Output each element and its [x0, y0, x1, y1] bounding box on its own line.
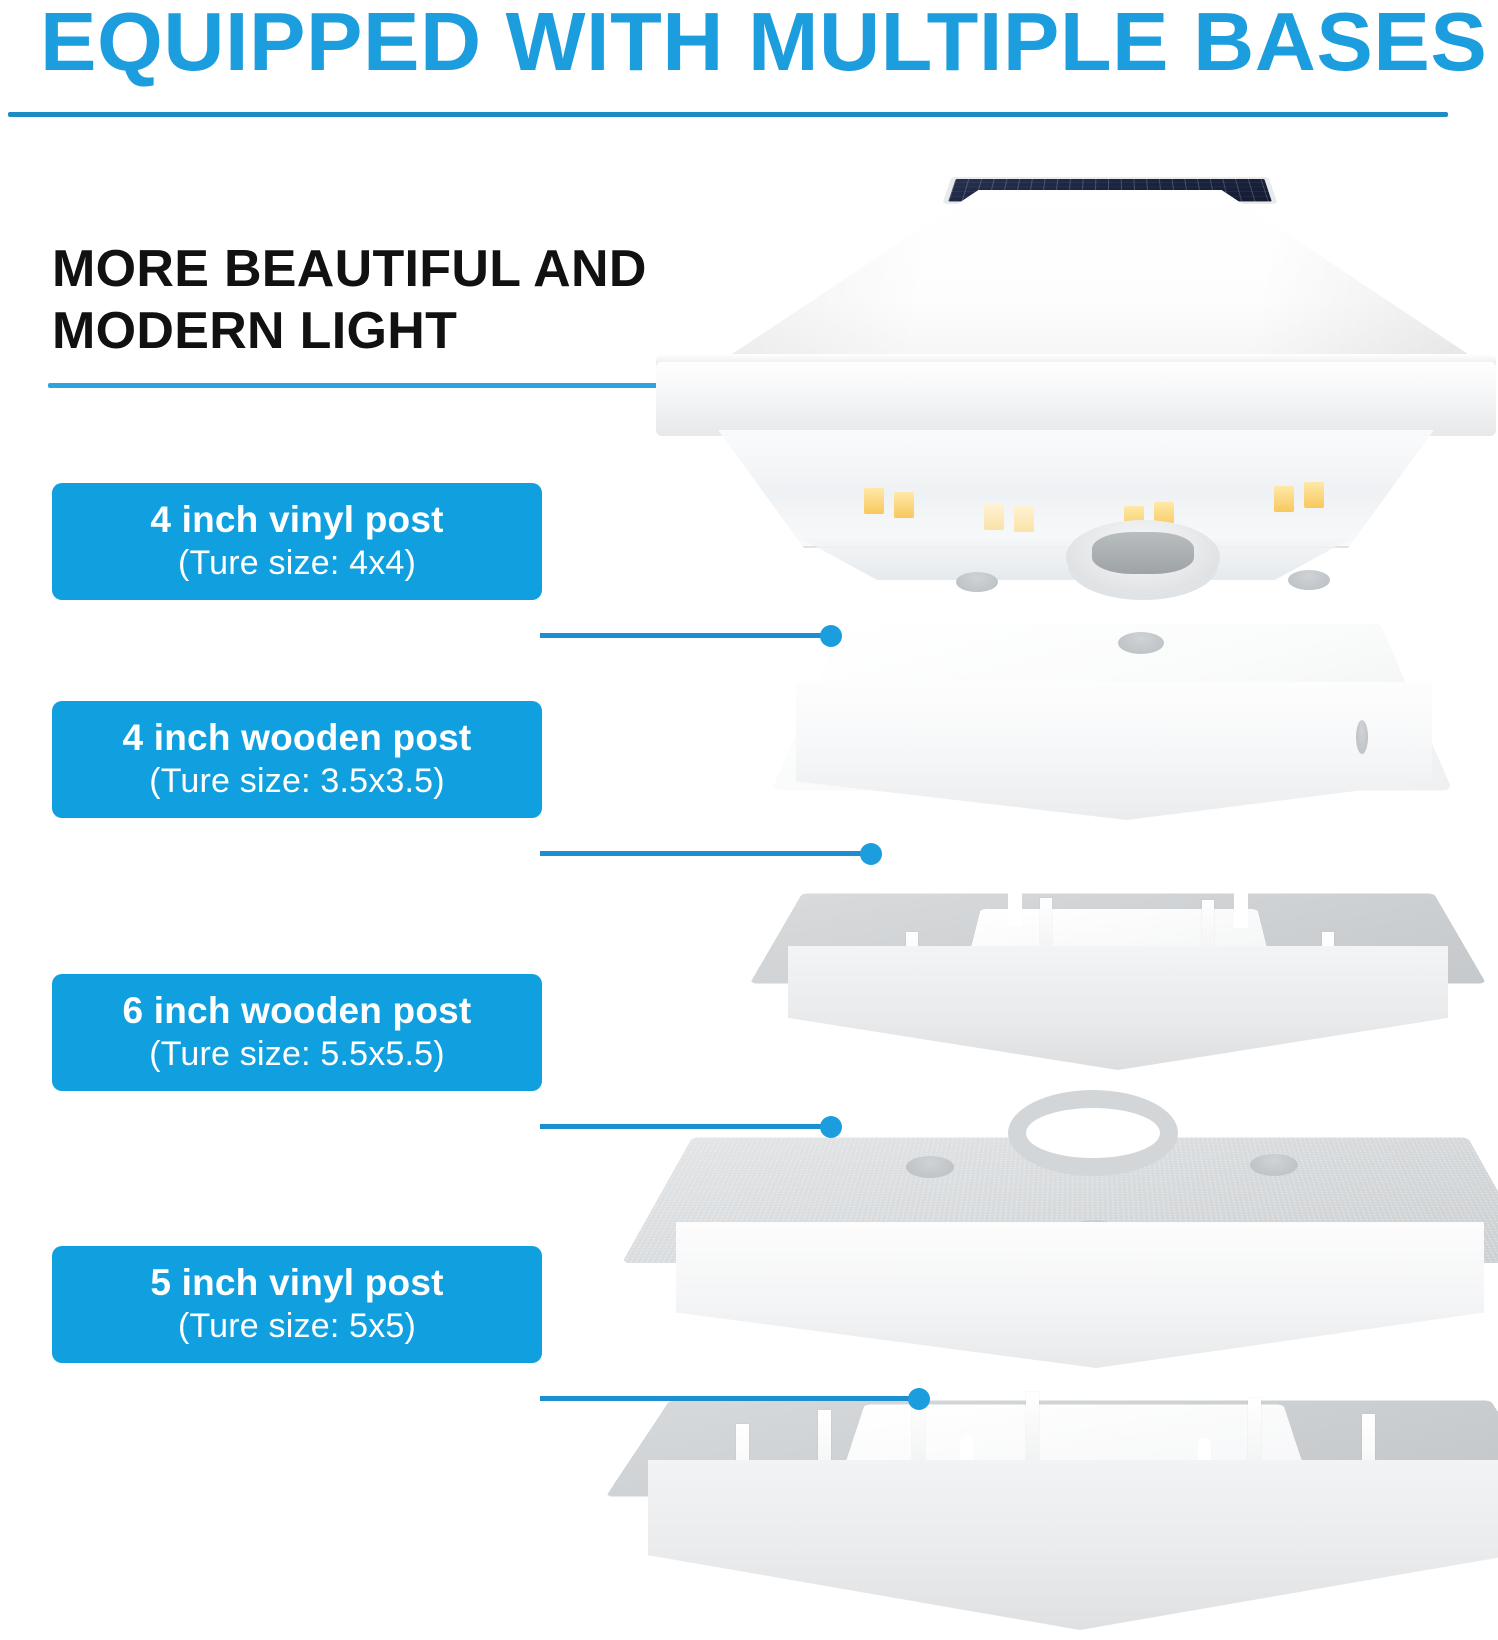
base-6in-wooden-collar-ring — [1008, 1090, 1178, 1176]
callout-leader-dot-3 — [820, 1116, 842, 1138]
callout-6-inch-wooden-post[interactable]: 6 inch wooden post (Ture size: 5.5x5.5) — [52, 974, 542, 1091]
base-5in-vinyl-skirt — [648, 1460, 1498, 1630]
callout-title: 4 inch vinyl post — [74, 497, 520, 542]
base-4in-vinyl-collar-slot — [1092, 532, 1194, 574]
callout-leader-line-1 — [540, 633, 830, 638]
screw-hole — [1118, 632, 1164, 654]
subtitle-line-1: MORE BEAUTIFUL AND — [52, 238, 672, 300]
frame-notch — [1008, 886, 1022, 926]
callout-5-inch-vinyl-post[interactable]: 5 inch vinyl post (Ture size: 5x5) — [52, 1246, 542, 1363]
callout-size: (Ture size: 3.5x3.5) — [74, 760, 520, 802]
base-4in-vinyl-body — [796, 682, 1432, 820]
led-chip — [894, 492, 914, 518]
screw-hole — [956, 572, 998, 592]
product-exploded-view — [600, 140, 1498, 1500]
page-title: EQUIPPED WITH MULTIPLE BASES — [40, 0, 1488, 92]
side-screw-hole — [1356, 720, 1368, 754]
base-6in-wooden — [660, 1070, 1498, 1370]
base-4in-wooden — [778, 840, 1458, 1090]
callout-size: (Ture size: 5.5x5.5) — [74, 1033, 520, 1075]
screw-hole — [1288, 570, 1330, 590]
lamp-flange — [656, 362, 1496, 436]
subtitle-block: MORE BEAUTIFUL AND MODERN LIGHT — [52, 238, 672, 362]
led-chip — [1014, 506, 1034, 532]
screw-hole — [906, 1156, 954, 1178]
subtitle-line-2: MODERN LIGHT — [52, 300, 672, 362]
frame-notch — [1234, 888, 1248, 928]
frame-rib — [1026, 1392, 1039, 1466]
base-4in-wooden-skirt — [788, 946, 1448, 1070]
base-5in-vinyl — [640, 1340, 1498, 1640]
callout-title: 6 inch wooden post — [74, 988, 520, 1033]
screw-hole — [1250, 1154, 1298, 1176]
callout-title: 5 inch vinyl post — [74, 1260, 520, 1305]
lamp-led-lens — [718, 430, 1434, 548]
callout-size: (Ture size: 4x4) — [74, 542, 520, 584]
led-chip — [984, 504, 1004, 530]
callout-leader-dot-2 — [860, 843, 882, 865]
callout-size: (Ture size: 5x5) — [74, 1305, 520, 1347]
callout-leader-line-3 — [540, 1124, 830, 1129]
callout-leader-dot-1 — [820, 625, 842, 647]
led-chip — [1274, 486, 1294, 512]
callout-4-inch-wooden-post[interactable]: 4 inch wooden post (Ture size: 3.5x3.5) — [52, 701, 542, 818]
led-chip — [1304, 482, 1324, 508]
callout-leader-line-4 — [540, 1396, 922, 1401]
callout-leader-line-2 — [540, 851, 870, 856]
led-chip — [864, 488, 884, 514]
callout-title: 4 inch wooden post — [74, 715, 520, 760]
callout-4-inch-vinyl-post[interactable]: 4 inch vinyl post (Ture size: 4x4) — [52, 483, 542, 600]
header-divider — [8, 112, 1448, 117]
callout-leader-dot-4 — [908, 1388, 930, 1410]
